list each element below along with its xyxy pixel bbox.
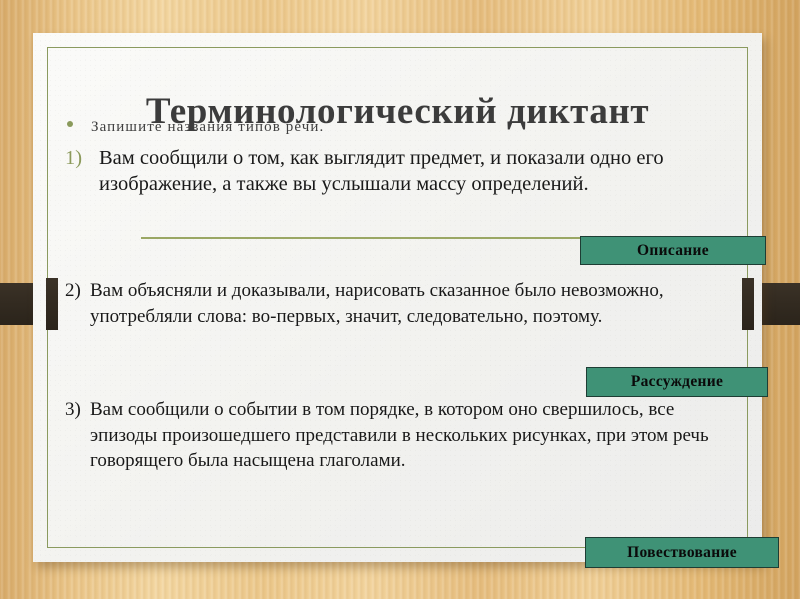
list-item-marker: 3) <box>65 397 90 474</box>
ribbon-end-cap-right <box>742 278 754 330</box>
list-item: 2) Вам объясняли и доказывали, нарисоват… <box>65 278 705 329</box>
divider-rule <box>141 237 586 239</box>
list-item-text: Вам сообщили о событии в том порядке, в … <box>90 397 715 474</box>
answer-badge-povestvovanie[interactable]: Повествование <box>585 537 779 568</box>
list-item-marker: 1) <box>65 145 99 197</box>
ribbon-end-cap-left <box>46 278 58 330</box>
list-item: 3) Вам сообщили о событии в том порядке,… <box>65 397 715 474</box>
answer-badge-opisanie[interactable]: Описание <box>580 236 766 265</box>
answer-badge-rassuzhdenie[interactable]: Рассуждение <box>586 367 768 397</box>
presentation-backdrop: Терминологический диктант Запишите назва… <box>0 0 800 599</box>
list-item-text: Вам сообщили о том, как выглядит предмет… <box>99 145 685 197</box>
bullet-dot-icon <box>67 121 73 127</box>
bullet-item: Запишите названия типов речи. <box>67 119 324 136</box>
list-item-text: Вам объясняли и доказывали, нарисовать с… <box>90 278 705 329</box>
list-item-marker: 2) <box>65 278 90 329</box>
list-item: 1) Вам сообщили о том, как выглядит пред… <box>65 145 685 197</box>
slide-card: Терминологический диктант Запишите назва… <box>33 33 762 562</box>
bullet-item-label: Запишите названия типов речи. <box>91 119 324 136</box>
